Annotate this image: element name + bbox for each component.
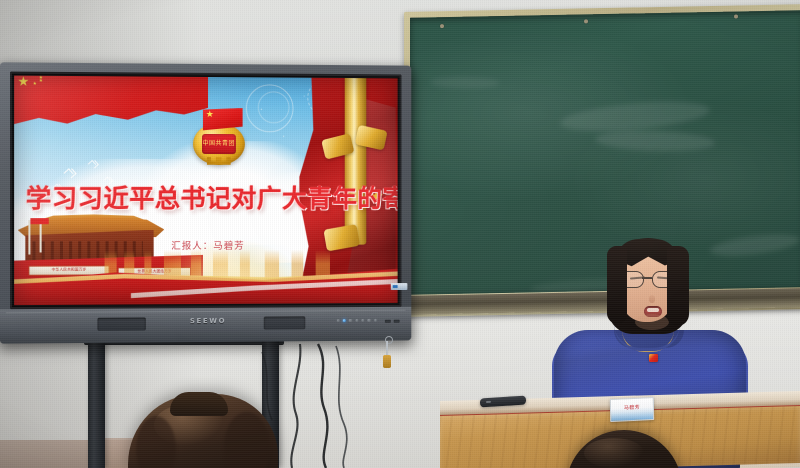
hair-side-left: [607, 246, 627, 324]
slide-ring-decor-icon: [258, 91, 290, 123]
flag-star-small-icon: ★: [33, 76, 37, 78]
panel-speaker-left: [97, 317, 145, 330]
panel-button-row[interactable]: [336, 319, 377, 322]
key-tag: [383, 355, 391, 368]
usb-port-icon[interactable]: [394, 320, 400, 323]
bezel-highlight: [6, 310, 406, 314]
panel-screen-frame: ★ ★ ★ ★ ★: [10, 72, 402, 310]
panel-button[interactable]: [374, 319, 377, 322]
flag-star-small-icon: ★: [33, 81, 37, 86]
red-banner-flag: [30, 218, 48, 224]
youth-league-emblem-icon: 中国共青团 ★: [191, 109, 247, 165]
panel-button[interactable]: [368, 319, 371, 322]
hair-strand: [224, 412, 270, 468]
slide-title: 学习习近平总书记对广大青年的寄语: [26, 186, 394, 211]
tv-stand-leg-left: [88, 340, 105, 468]
presentation-screen[interactable]: ★ ★ ★ ★ ★: [14, 76, 398, 306]
name-card-text: 马碧芳: [611, 403, 653, 412]
emblem-inner-plate: 中国共青团: [202, 134, 236, 154]
panel-bezel: ★ ★ ★ ★ ★: [0, 62, 411, 343]
teeth: [647, 308, 659, 312]
panel-speaker-right: [264, 316, 306, 329]
power-led-icon[interactable]: [343, 319, 346, 322]
name-card: 马碧芳: [610, 397, 654, 422]
hanging-keys-icon: [383, 336, 392, 370]
chalk-smudge: [430, 76, 500, 89]
hair-side-right: [667, 246, 689, 326]
chin-shadow: [635, 314, 669, 330]
dove-icon: [65, 170, 74, 177]
panel-usb-ports[interactable]: [385, 320, 400, 323]
interactive-flat-panel[interactable]: ★ ★ ★ ★ ★: [0, 62, 411, 343]
emblem-base: [207, 157, 231, 165]
usb-port-icon[interactable]: [385, 320, 391, 323]
hair-highlight: [584, 438, 644, 468]
remote-button-icon[interactable]: [486, 401, 491, 403]
ponytail: [170, 392, 228, 416]
head: [614, 240, 680, 326]
dove-icon: [89, 161, 97, 167]
chalk-smudge: [595, 129, 716, 153]
panel-brand-logo: SEEWO: [190, 317, 226, 325]
slide-presenter-line: 汇报人：马碧芳: [14, 238, 398, 253]
dove-icon: [105, 178, 112, 183]
flag-star-large-icon: ★: [17, 76, 29, 88]
emblem-text: 中国共青团: [202, 138, 236, 147]
classroom-presentation-photo: ★ ★ ★ ★ ★: [0, 0, 800, 468]
panel-button[interactable]: [349, 319, 352, 322]
youth-league-pin-icon: [649, 354, 658, 362]
panel-bottom-bezel: SEEWO: [0, 307, 411, 344]
panel-button[interactable]: [355, 319, 358, 322]
huabiao-shaft: [345, 78, 367, 245]
flag-star-small-icon: ★: [39, 79, 43, 84]
panel-button[interactable]: [336, 319, 339, 322]
glasses-bridge: [642, 277, 652, 279]
nose: [649, 295, 655, 303]
panel-button[interactable]: [361, 319, 364, 322]
emblem-star-icon: ★: [206, 110, 214, 119]
panel-corner-sticker: [391, 283, 408, 290]
